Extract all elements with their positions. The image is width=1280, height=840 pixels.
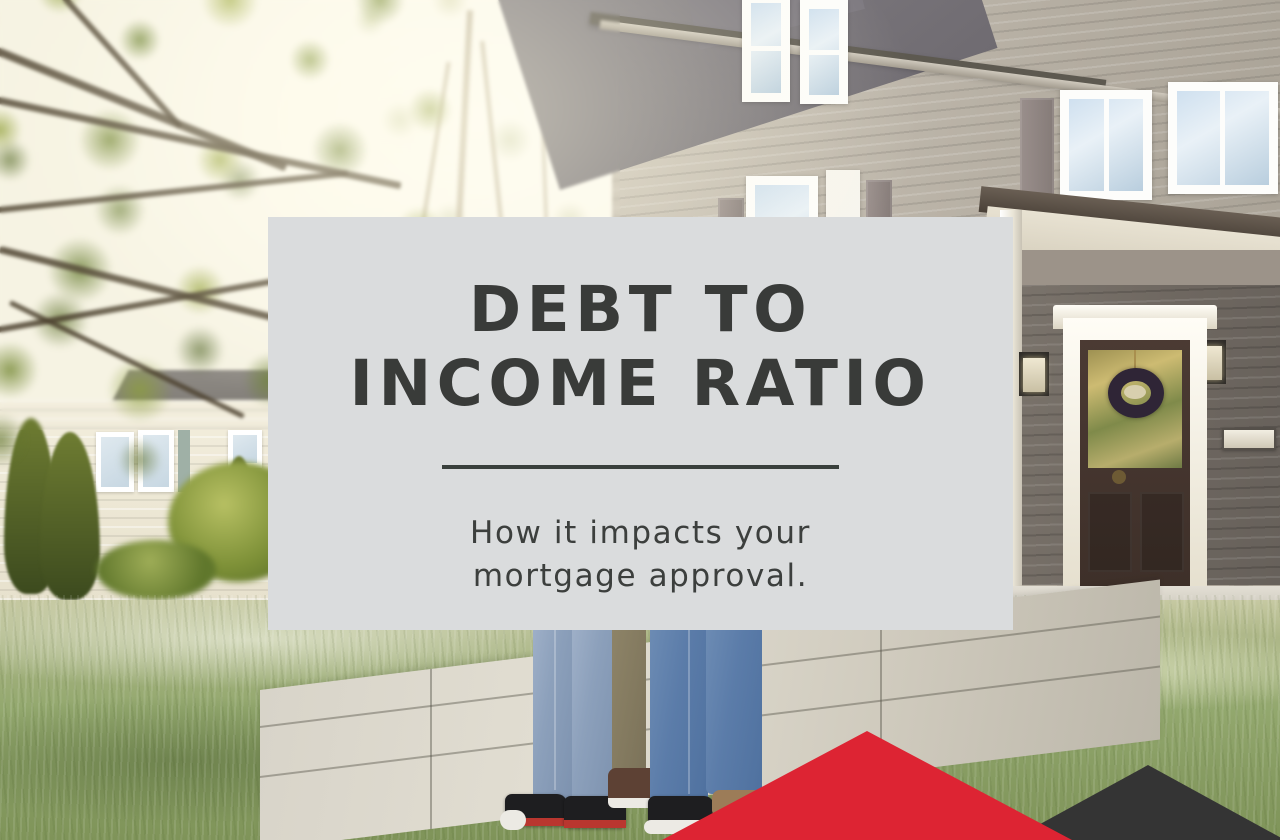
mailbox	[1222, 428, 1276, 450]
second-floor-window	[1060, 90, 1152, 200]
poster-canvas: DEBT TO INCOME RATIO How it impacts your…	[0, 0, 1280, 840]
person-leg	[650, 618, 708, 804]
dormer-window	[800, 0, 848, 104]
wall-sconce-left	[1023, 358, 1045, 392]
porch-ceiling	[1010, 250, 1280, 290]
text-card: DEBT TO INCOME RATIO How it impacts your…	[268, 217, 1013, 630]
foundation-shrub	[96, 540, 216, 600]
jean-seam	[688, 626, 690, 794]
page-title: DEBT TO INCOME RATIO	[268, 273, 1013, 420]
title-line-1: DEBT TO	[469, 273, 812, 346]
wreath-hanger	[1134, 350, 1136, 370]
title-divider	[442, 465, 839, 469]
page-subtitle: How it impacts your mortgage approval.	[268, 512, 1013, 598]
window-shutter	[1020, 98, 1054, 202]
door-panel	[1140, 492, 1184, 572]
door-panel	[1088, 492, 1132, 572]
sneaker-toe	[500, 810, 526, 830]
sneaker-sole	[564, 820, 626, 828]
person-leg	[706, 618, 762, 794]
jean-seam	[554, 630, 556, 790]
dormer-window	[742, 0, 790, 102]
subtitle-line-1: How it impacts your	[470, 515, 811, 551]
subtitle-line-2: mortgage approval.	[268, 555, 1013, 598]
second-floor-window	[1168, 82, 1278, 194]
wreath-center	[1124, 385, 1146, 399]
title-line-2: INCOME RATIO	[268, 347, 1013, 421]
door-knocker	[1112, 470, 1126, 484]
